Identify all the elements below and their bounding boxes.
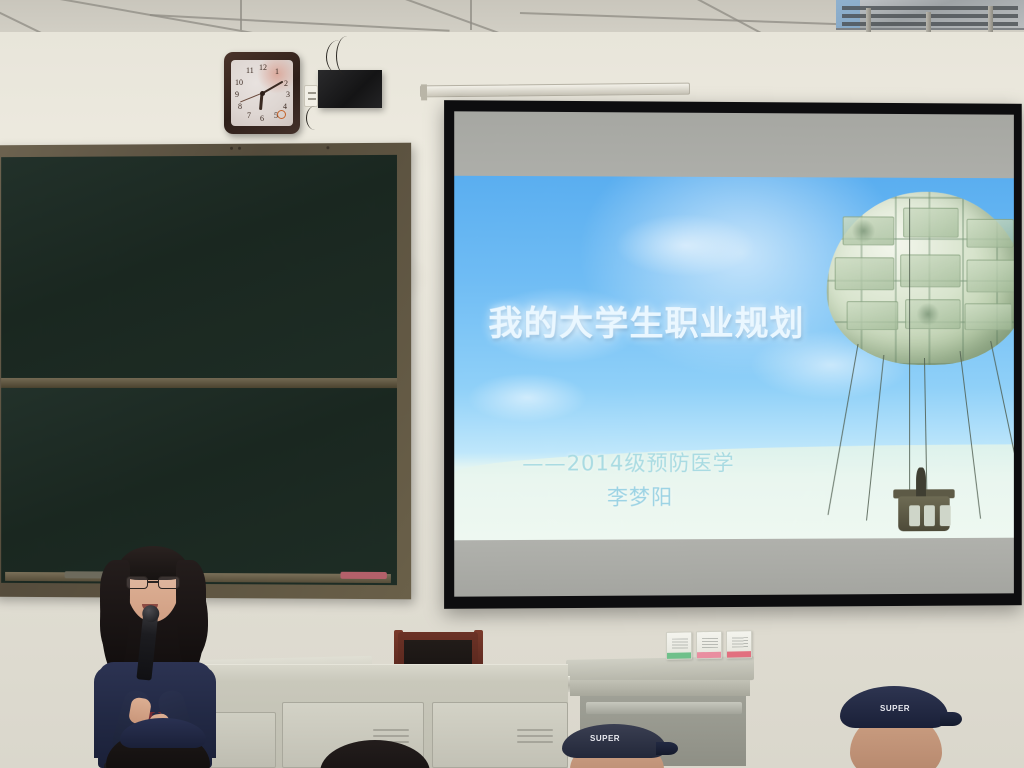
chalkboard-panel-top [1, 155, 397, 378]
cap-logo-text: SUPER [590, 734, 620, 743]
supply-box[interactable] [666, 631, 692, 660]
projection-screen-surface: 我的大学生职业规划 ——2014级预防医学 李梦阳 [454, 111, 1014, 596]
ceiling [0, 0, 1024, 34]
slide-subtitle-name: 李梦阳 [607, 481, 673, 511]
presenter-hair-right [176, 560, 206, 672]
wall-clock: 12 1 2 3 4 5 6 7 8 9 10 11 [224, 52, 300, 134]
clock-numeral: 12 [259, 64, 267, 72]
clock-numeral: 9 [235, 91, 239, 99]
audience-member [96, 724, 216, 768]
power-outlet[interactable] [304, 85, 318, 107]
clock-numeral: 8 [238, 103, 242, 111]
projection-screen: 我的大学生职业规划 ——2014级预防医学 李梦阳 [444, 100, 1022, 609]
cap-logo-text: SUPER [880, 704, 910, 713]
clock-accent-dot [277, 110, 286, 119]
wall-speaker [318, 70, 382, 108]
screen-blank-band-bottom [454, 538, 1014, 597]
board-eraser[interactable] [340, 572, 386, 579]
microphone-head [141, 604, 160, 623]
hot-air-balloon-graphic [781, 192, 1014, 539]
podium-cabinet-door[interactable] [432, 702, 568, 768]
supply-box[interactable] [696, 631, 722, 660]
glasses-icon [126, 576, 180, 590]
clock-numeral: 2 [284, 80, 288, 88]
presentation-slide: 我的大学生职业规划 ——2014级预防医学 李梦阳 [454, 176, 1014, 541]
clock-numeral: 7 [247, 112, 251, 120]
hanging-cable [336, 36, 358, 76]
audience-member-capped: SUPER [556, 722, 676, 768]
classroom-photo: 12 1 2 3 4 5 6 7 8 9 10 11 [0, 0, 1024, 768]
outlet-cable [306, 106, 324, 130]
clock-center-pin [260, 91, 265, 96]
audience-member [320, 740, 430, 768]
side-table-drawer[interactable] [586, 702, 742, 714]
supply-box[interactable] [726, 630, 752, 659]
clock-numeral: 10 [235, 79, 243, 87]
screen-blank-band-top [454, 111, 1014, 178]
side-table-apron [570, 680, 750, 696]
clock-numeral: 3 [286, 91, 290, 99]
clock-face: 12 1 2 3 4 5 6 7 8 9 10 11 [231, 60, 293, 126]
clock-numeral: 11 [246, 67, 254, 75]
chalkboard-middle-ledge [1, 378, 397, 388]
chalkboard-surface [1, 155, 397, 585]
slide-title: 我的大学生职业规划 [488, 296, 804, 345]
audience-member-capped: SUPER [836, 686, 956, 768]
balloon-envelope [827, 192, 1014, 365]
slide-subtitle-class: ——2014级预防医学 [522, 447, 734, 478]
clock-numeral: 1 [275, 68, 279, 76]
chalkboard [0, 143, 411, 600]
clock-numeral: 6 [260, 115, 264, 123]
balloon-pilot [916, 467, 925, 498]
